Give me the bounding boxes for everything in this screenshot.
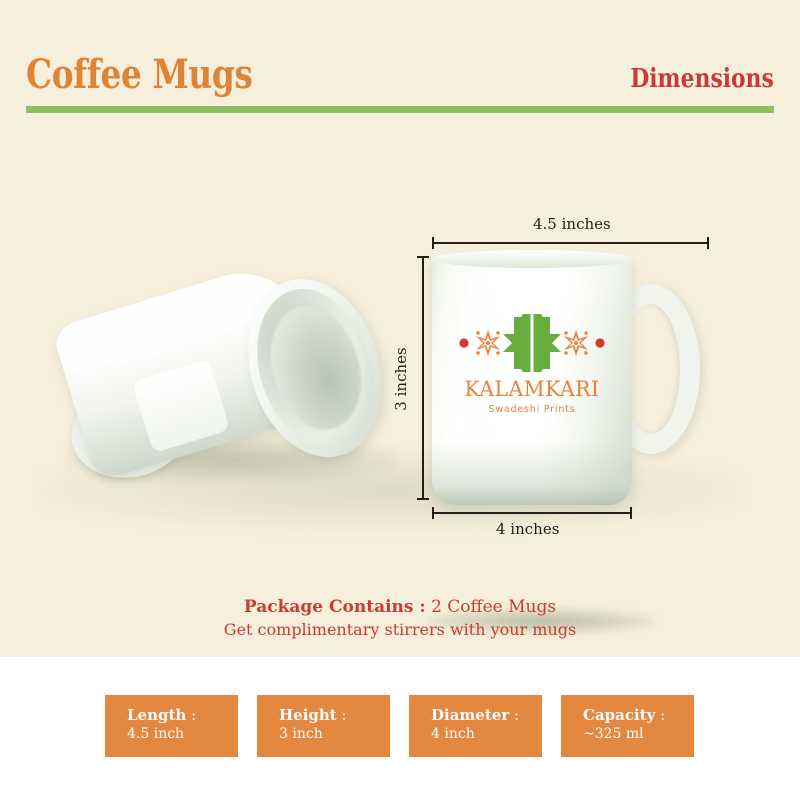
dimension-label-width-bottom: 4 inches [496, 520, 559, 538]
dimension-cap-left [432, 507, 434, 519]
spec-value-length: 4.5 inch [127, 725, 238, 744]
spec-label-text: Capacity [583, 706, 655, 724]
spec-card-length: Length : 4.5 inch [105, 695, 238, 757]
package-contains-label: Package Contains : [244, 597, 426, 617]
logo-tagline: Swadeshi Prints [444, 404, 620, 416]
dimension-line-width-top [432, 242, 709, 244]
kalamkari-logo: KALAMKARI Swadeshi Prints [444, 312, 620, 442]
page-title: Coffee Mugs [26, 52, 252, 98]
dimension-line-width-bottom [432, 512, 632, 514]
spec-card-diameter: Diameter : 4 inch [409, 695, 542, 757]
spec-label-text: Diameter [431, 706, 509, 724]
dimension-cap-left [432, 237, 434, 249]
spec-value-height: 3 inch [279, 725, 390, 744]
spec-label-capacity: Capacity : [583, 706, 694, 725]
standing-mug-rim [432, 250, 632, 268]
spec-label-text: Height [279, 706, 337, 724]
package-complimentary-note: Get complimentary stirrers with your mug… [0, 619, 800, 641]
logo-wordmark: KALAMKARI [447, 377, 618, 401]
dimension-cap-bottom [417, 498, 429, 500]
spec-label-colon: : [655, 706, 665, 724]
dimension-cap-right [707, 237, 709, 249]
spec-card-height: Height : 3 inch [257, 695, 390, 757]
header-subtitle: Dimensions [631, 64, 774, 94]
spec-label-colon: : [337, 706, 347, 724]
dimension-label-width-top: 4.5 inches [533, 215, 611, 233]
dimension-cap-right [630, 507, 632, 519]
infographic-page: Coffee Mugs Dimensions [0, 0, 800, 800]
spec-label-length: Length : [127, 706, 238, 725]
mug-lying-illustration [55, 265, 400, 490]
spec-label-height: Height : [279, 706, 390, 725]
spec-label-diameter: Diameter : [431, 706, 542, 725]
mug-standing-illustration: KALAMKARI Swadeshi Prints [420, 250, 710, 510]
spec-cards-row: Length : 4.5 inch Height : 3 inch Diamet… [105, 695, 697, 757]
dimension-cap-top [417, 256, 429, 258]
dimension-line-height [422, 256, 424, 500]
spec-value-capacity: ~325 ml [583, 725, 694, 744]
header-divider-rule [26, 106, 774, 113]
header: Coffee Mugs Dimensions [26, 52, 774, 114]
kalamkari-emblem-icon [444, 312, 620, 376]
package-note: Package Contains : 2 Coffee Mugs Get com… [0, 596, 800, 641]
dimension-label-height: 3 inches [392, 344, 410, 414]
spec-value-diameter: 4 inch [431, 725, 542, 744]
package-contains-value: 2 Coffee Mugs [431, 597, 556, 617]
spec-label-colon: : [186, 706, 196, 724]
product-stage: KALAMKARI Swadeshi Prints 4.5 inches 3 i… [0, 120, 800, 575]
spec-label-text: Length [127, 706, 186, 724]
package-contains-line: Package Contains : 2 Coffee Mugs [0, 596, 800, 619]
spec-card-capacity: Capacity : ~325 ml [561, 695, 694, 757]
spec-label-colon: : [509, 706, 519, 724]
